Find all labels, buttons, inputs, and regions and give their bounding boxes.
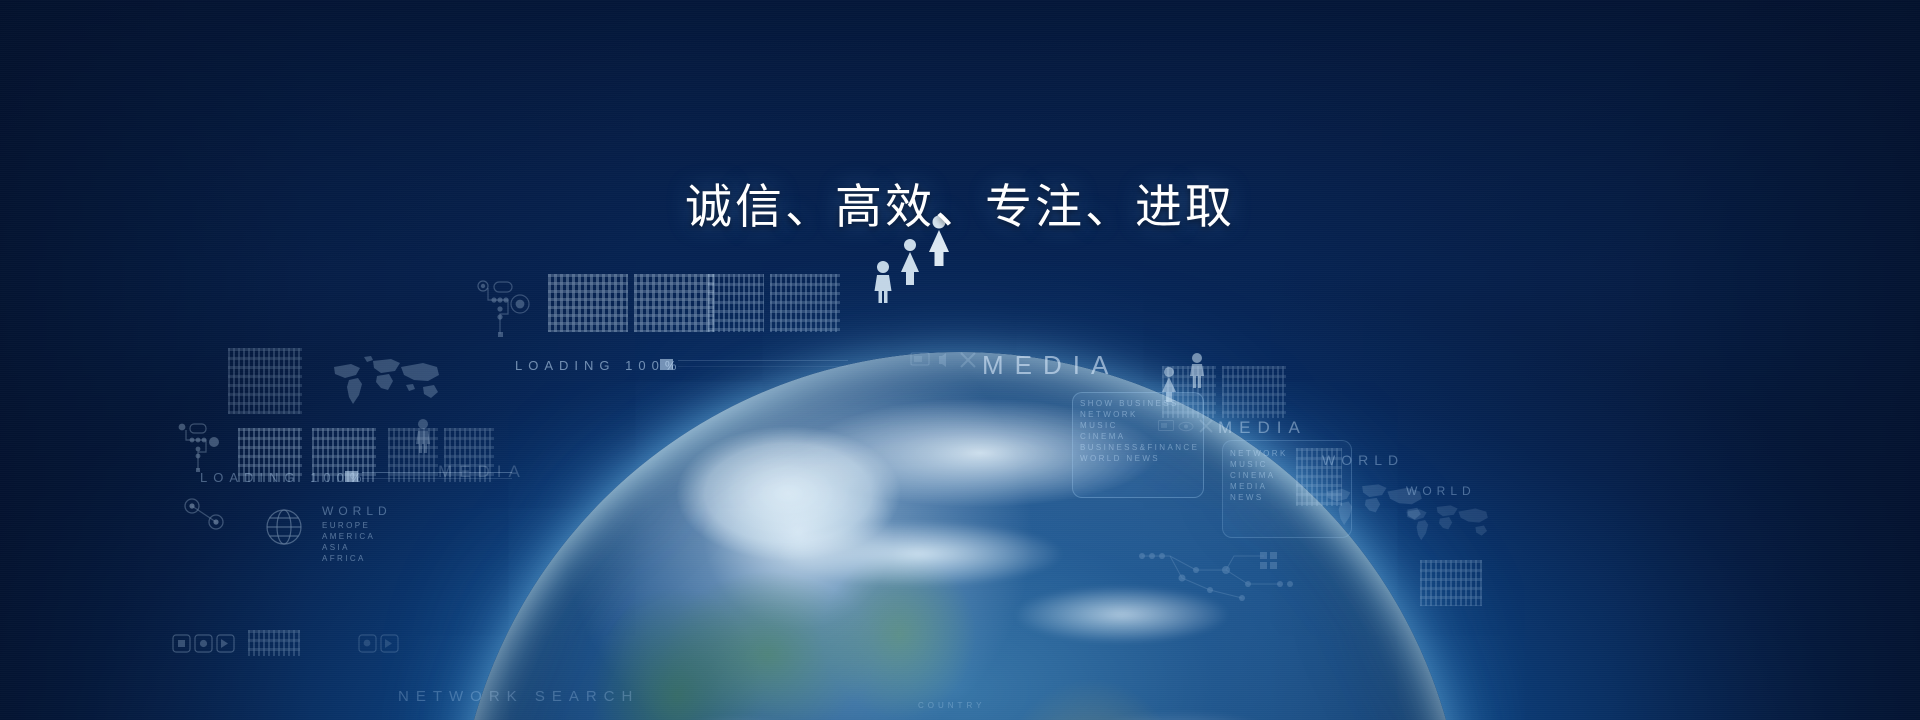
menu-item[interactable]: NETWORK	[1080, 409, 1204, 420]
person-icon	[898, 238, 922, 286]
media-label-right: MEDIA	[1218, 418, 1307, 438]
menu-item[interactable]: SHOW BUSINESS	[1080, 398, 1204, 409]
media-control-icons[interactable]	[358, 632, 416, 654]
menu-item[interactable]: WORLD NEWS	[1080, 453, 1204, 464]
panel-item[interactable]: NEWS	[1230, 492, 1290, 503]
circuit-node-icon	[176, 418, 228, 476]
world-label-left: WORLD	[322, 504, 392, 518]
region-label: AMERICA	[322, 531, 375, 542]
region-label: ASIA	[322, 542, 375, 553]
media-label-left: MEDIA	[438, 462, 527, 482]
data-block	[1420, 560, 1482, 606]
eye-icon	[1178, 420, 1194, 433]
close-x-icon	[958, 350, 978, 370]
connector-nodes-icon	[180, 496, 232, 532]
person-icon	[1188, 352, 1206, 388]
media-label-top: MEDIA	[982, 350, 1119, 381]
loading-label-left: LOADING 100%	[200, 470, 367, 485]
data-block	[770, 274, 840, 332]
world-label-far-right: WORLD	[1406, 484, 1476, 498]
world-label-right: WORLD	[1322, 452, 1404, 468]
progress-chip	[345, 471, 358, 482]
close-x-icon	[1198, 418, 1214, 434]
data-block	[248, 630, 300, 656]
data-block	[708, 274, 764, 332]
data-block	[634, 274, 714, 332]
loading-label-top: LOADING 100%	[515, 358, 682, 373]
panel-item[interactable]: MEDIA	[1230, 481, 1290, 492]
region-label: EUROPE	[322, 520, 375, 531]
world-map-icon	[325, 352, 445, 414]
hero-banner: LOADING 100% MEDIA WORLD EUROPE AMERICA	[0, 0, 1920, 720]
monitor-icon	[1158, 420, 1174, 433]
circuit-node-icon	[476, 278, 532, 338]
progress-bar-top	[678, 360, 848, 367]
control-buttons-icon[interactable]	[172, 632, 236, 654]
person-icon	[414, 418, 432, 454]
network-search-label: NETWORK SEARCH	[398, 688, 639, 705]
network-panel-list[interactable]: NETWORK MUSIC CINEMA MEDIA NEWS	[1230, 448, 1290, 503]
country-label: COUNTRY	[918, 700, 985, 711]
panel-item[interactable]: NETWORK	[1230, 448, 1290, 459]
progress-chip	[660, 359, 673, 370]
people-group	[872, 242, 956, 304]
menu-item[interactable]: BUSINESS&FINANCE	[1080, 442, 1204, 453]
person-icon	[872, 260, 894, 304]
page-title: 诚信、高效、专注、进取	[0, 168, 1920, 237]
panel-item[interactable]: CINEMA	[1230, 470, 1290, 481]
world-map-icon	[1398, 500, 1494, 548]
data-block	[228, 348, 302, 414]
panel-item[interactable]: MUSIC	[1230, 459, 1290, 470]
monitor-icon	[910, 352, 930, 368]
world-regions-left: EUROPE AMERICA ASIA AFRICA	[322, 520, 375, 564]
globe-wireframe-icon	[265, 508, 303, 546]
data-block	[1222, 366, 1286, 418]
network-graph-icon	[1130, 536, 1300, 616]
play-icon	[936, 352, 952, 368]
data-block	[548, 274, 628, 332]
region-label: AFRICA	[322, 553, 375, 564]
